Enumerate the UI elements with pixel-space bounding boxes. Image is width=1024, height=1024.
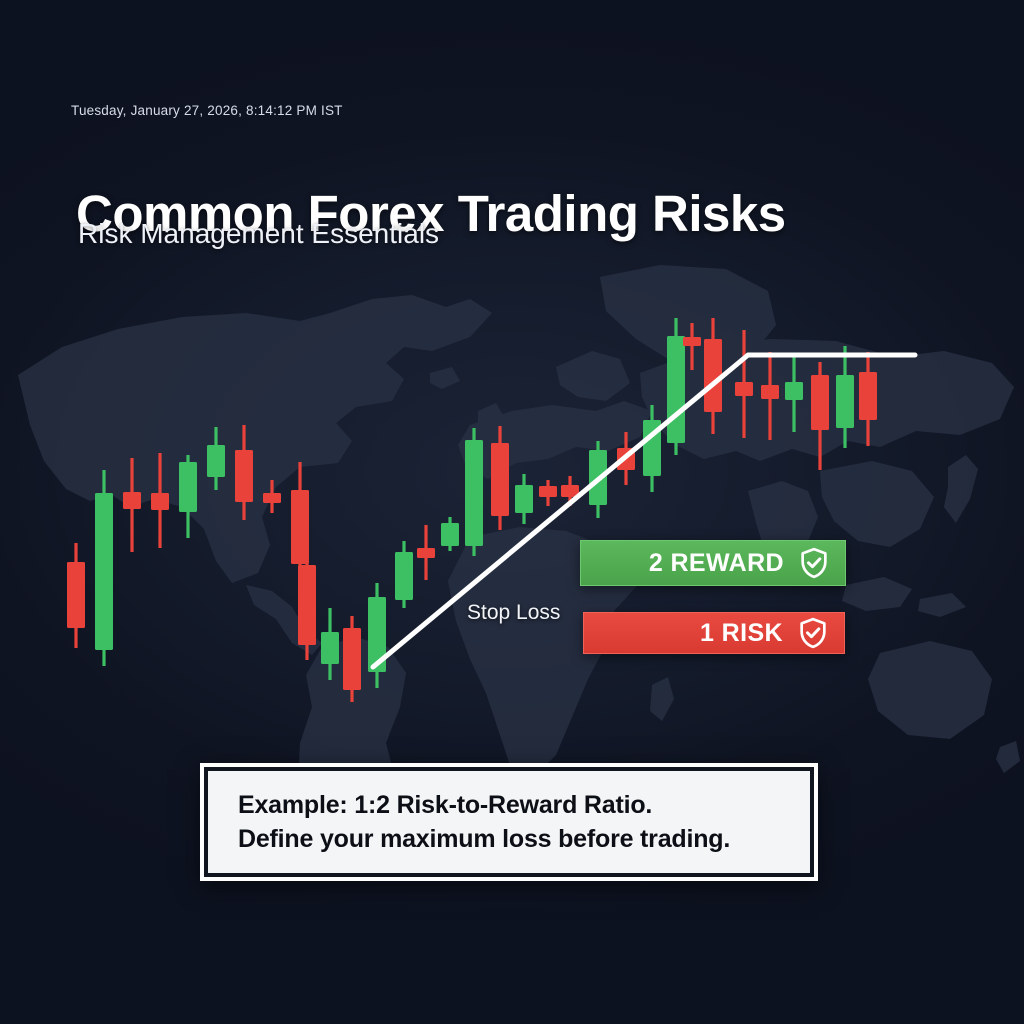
candle-body (491, 443, 509, 516)
caption-line-1: Example: 1:2 Risk-to-Reward Ratio. (238, 791, 810, 820)
risk-badge-label: 1 RISK (700, 619, 783, 648)
candle-body (95, 493, 113, 650)
reward-badge-label: 2 REWARD (649, 549, 784, 578)
shield-check-icon (796, 616, 830, 650)
candle-body (123, 492, 141, 509)
candle-body (321, 632, 339, 664)
candle-body (735, 382, 753, 396)
candle-body (207, 445, 225, 477)
candle-body (761, 385, 779, 399)
candle-body (515, 485, 533, 513)
candle-body (811, 375, 829, 430)
caption-box: Example: 1:2 Risk-to-Reward Ratio. Defin… (200, 763, 818, 881)
caption-inner: Example: 1:2 Risk-to-Reward Ratio. Defin… (204, 767, 814, 877)
candle-body (67, 562, 85, 628)
candle-body (704, 339, 722, 412)
candle-wick (690, 323, 693, 370)
candle-body (235, 450, 253, 502)
candle-body (263, 493, 281, 503)
candle-body (179, 462, 197, 512)
reward-badge[interactable]: 2 REWARD (580, 540, 846, 586)
risk-badge[interactable]: 1 RISK (583, 612, 845, 654)
candle-body (441, 523, 459, 546)
candle-body (683, 337, 701, 346)
candle-body (836, 375, 854, 428)
candle-body (395, 552, 413, 600)
candle-body (539, 486, 557, 497)
candle-body (785, 382, 803, 400)
candle-body (343, 628, 361, 690)
caption-line-2: Define your maximum loss before trading. (238, 825, 810, 854)
candle-body (859, 372, 877, 420)
stop-loss-label: Stop Loss (467, 601, 560, 625)
candle-body (417, 548, 435, 558)
candle-body (465, 440, 483, 546)
candle-body (298, 565, 316, 645)
shield-check-icon (797, 546, 831, 580)
candle-body (667, 336, 685, 443)
candle-body (151, 493, 169, 510)
forex-risk-infographic: Tuesday, January 27, 2026, 8:14:12 PM IS… (0, 0, 1024, 1024)
